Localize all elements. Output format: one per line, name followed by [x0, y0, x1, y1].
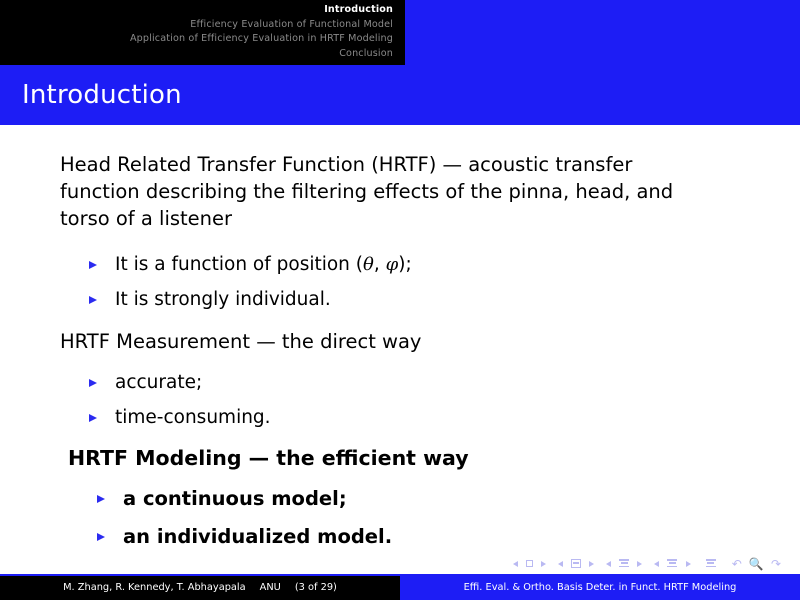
next-section-arrow-icon[interactable] — [686, 561, 691, 567]
phi-symbol: φ — [386, 254, 399, 275]
list-item-text: time-consuming. — [115, 407, 271, 428]
history-navigation-group[interactable]: ↶ 🔍 ↷ — [731, 553, 782, 572]
triangle-bullet-icon — [89, 296, 97, 304]
nav-section-introduction[interactable]: Introduction — [0, 3, 393, 18]
paragraph-hrtf-measurement: HRTF Measurement — the direct way — [60, 328, 700, 355]
footline-left: M. Zhang, R. Kennedy, T. AbhayapalaANU(3… — [0, 576, 400, 600]
prev-subsection-arrow-icon[interactable] — [606, 561, 611, 567]
list-item: It is a function of position (θ, φ); — [0, 247, 700, 282]
theta-symbol: θ — [363, 254, 374, 275]
footer-authors: M. Zhang, R. Kennedy, T. Abhayapala — [63, 582, 246, 593]
list-item-text-post: ); — [398, 254, 411, 275]
back-icon[interactable]: ↶ — [732, 558, 742, 570]
search-icon[interactable]: 🔍 — [749, 558, 764, 570]
forward-icon[interactable]: ↷ — [771, 558, 781, 570]
triangle-bullet-icon — [89, 414, 97, 422]
headline-bar: Introduction Efficiency Evaluation of Fu… — [0, 0, 800, 66]
frame-title-bar: Introduction — [0, 66, 800, 125]
section-navigation: Introduction Efficiency Evaluation of Fu… — [0, 3, 393, 61]
page-title: Introduction — [22, 80, 182, 110]
section-icon[interactable] — [667, 559, 677, 568]
nav-section-efficiency-evaluation[interactable]: Efficiency Evaluation of Functional Mode… — [0, 18, 393, 33]
footer-short-title: Effi. Eval. & Ortho. Basis Deter. in Fun… — [464, 582, 737, 593]
list-item-text: accurate; — [115, 372, 202, 393]
subsection-navigation-group[interactable] — [606, 553, 642, 572]
bullet-list-modeling-traits: a continuous model; an individualized mo… — [0, 480, 700, 556]
footer-institute: ANU — [260, 582, 281, 593]
list-item: accurate; — [0, 365, 700, 400]
list-item: It is strongly individual. — [0, 282, 700, 317]
nav-section-conclusion[interactable]: Conclusion — [0, 47, 393, 62]
list-item: an individualized model. — [0, 518, 700, 556]
beamer-slide: Introduction Efficiency Evaluation of Fu… — [0, 0, 800, 600]
slide-navigation-group[interactable] — [513, 553, 546, 572]
document-navigation-group[interactable] — [703, 553, 719, 572]
prev-slide-arrow-icon[interactable] — [513, 561, 518, 567]
list-item-text: a continuous model; — [123, 487, 347, 510]
bullet-list-hrtf-properties: It is a function of position (θ, φ); It … — [0, 247, 700, 317]
list-item-text-mid: , — [374, 254, 386, 275]
triangle-bullet-icon — [89, 261, 97, 269]
paragraph-hrtf-definition: Head Related Transfer Function (HRTF) — … — [60, 151, 700, 232]
footer-page-number: (3 of 29) — [295, 582, 337, 593]
list-item: a continuous model; — [0, 480, 700, 518]
footline-right: Effi. Eval. & Ortho. Basis Deter. in Fun… — [400, 576, 800, 600]
frame-icon[interactable] — [571, 559, 581, 568]
bullet-list-measurement-traits: accurate; time-consuming. — [0, 365, 700, 435]
section-navigation-group[interactable] — [654, 553, 690, 572]
document-icon[interactable] — [706, 559, 716, 568]
paragraph-hrtf-modeling: HRTF Modeling — the efficient way — [68, 445, 708, 472]
next-frame-arrow-icon[interactable] — [589, 561, 594, 567]
next-slide-arrow-icon[interactable] — [541, 561, 546, 567]
subsection-icon[interactable] — [619, 559, 629, 568]
prev-frame-arrow-icon[interactable] — [558, 561, 563, 567]
footline-bar: M. Zhang, R. Kennedy, T. AbhayapalaANU(3… — [0, 574, 800, 600]
nav-section-application[interactable]: Application of Efficiency Evaluation in … — [0, 32, 393, 47]
triangle-bullet-icon — [89, 379, 97, 387]
triangle-bullet-icon — [97, 495, 105, 503]
slide-square-icon[interactable] — [526, 560, 533, 567]
list-item-text-pre: It is a function of position ( — [115, 254, 363, 275]
slide-body: Head Related Transfer Function (HRTF) — … — [0, 125, 800, 550]
next-subsection-arrow-icon[interactable] — [637, 561, 642, 567]
list-item: time-consuming. — [0, 400, 700, 435]
prev-section-arrow-icon[interactable] — [654, 561, 659, 567]
beamer-navigation-symbols: ↶ 🔍 ↷ — [0, 552, 800, 574]
triangle-bullet-icon — [97, 533, 105, 541]
list-item-text: an individualized model. — [123, 525, 392, 548]
frame-navigation-group[interactable] — [558, 553, 594, 572]
list-item-text: It is strongly individual. — [115, 289, 331, 310]
